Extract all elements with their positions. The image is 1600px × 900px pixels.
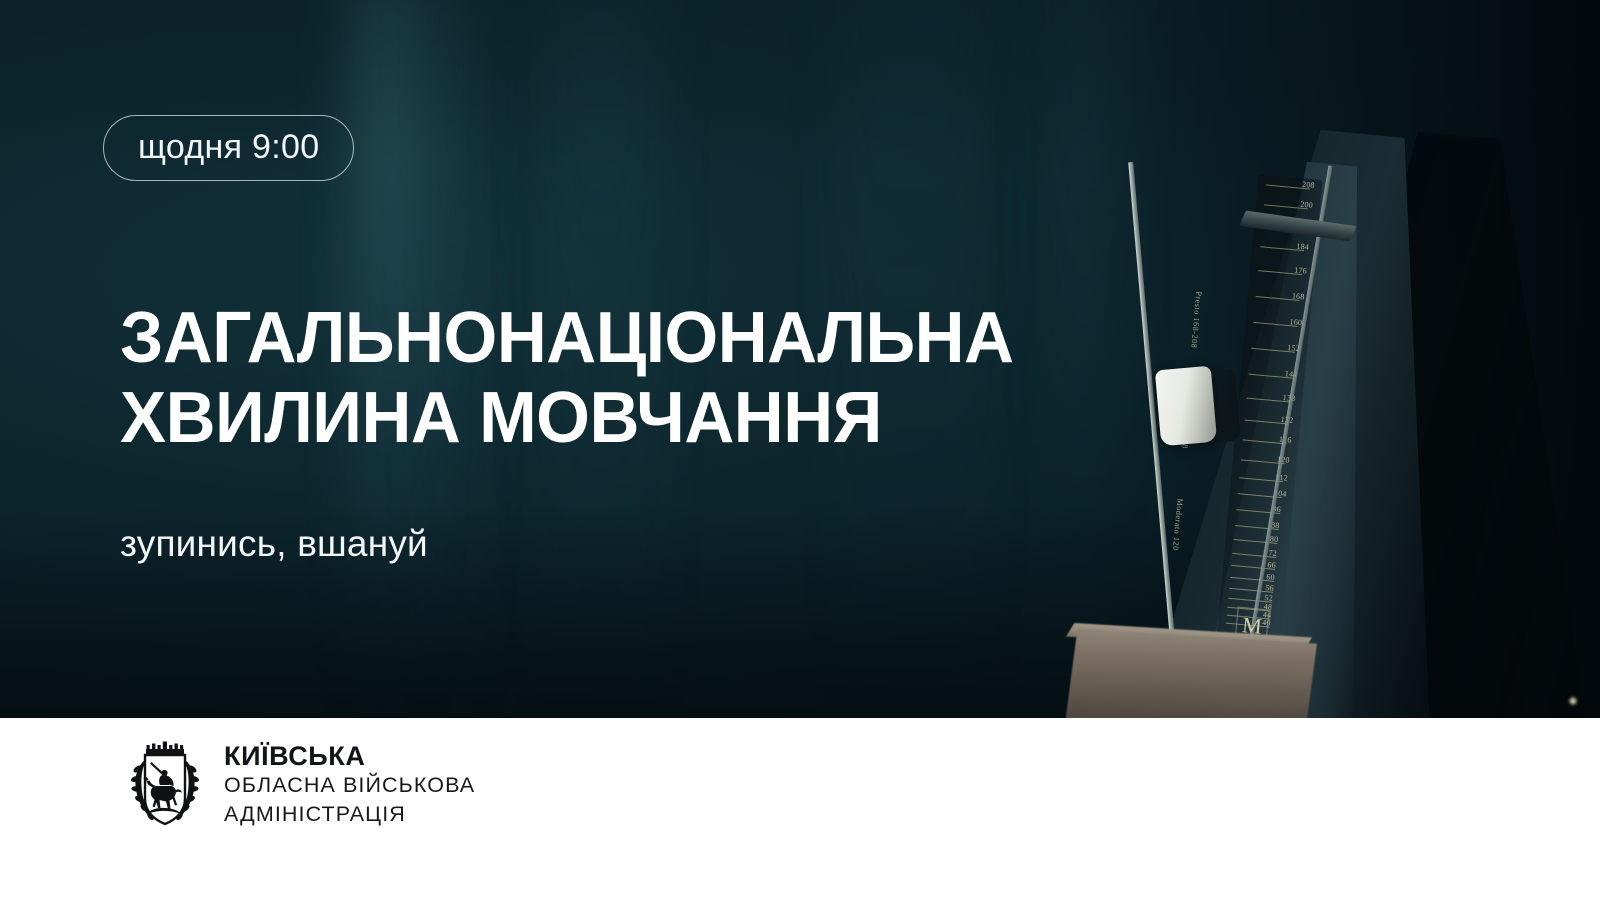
org-line-1: КИЇВСЬКА bbox=[224, 742, 475, 771]
schedule-badge: щодня 9:00 bbox=[103, 115, 354, 181]
org-line-2: ОБЛАСНА ВІЙСЬКОВА bbox=[224, 771, 475, 799]
hero-photo: 208 200 192 184 176 168 160 152 144 138 … bbox=[0, 0, 1600, 718]
headline-line-2: ХВИЛИНА МОВЧАННЯ bbox=[120, 378, 1014, 458]
page-subtitle: зупинись, вшануй bbox=[120, 524, 428, 565]
headline-line-1: ЗАГАЛЬНОНАЦІОНАЛЬНА bbox=[120, 298, 1014, 378]
organization-name: КИЇВСЬКА ОБЛАСНА ВІЙСЬКОВА АДМІНІСТРАЦІЯ bbox=[224, 742, 475, 828]
metronome-wooden-base bbox=[1063, 629, 1317, 718]
footer-bar: КИЇВСЬКА ОБЛАСНА ВІЙСЬКОВА АДМІНІСТРАЦІЯ bbox=[0, 718, 1600, 900]
kyiv-oblast-coat-of-arms-icon bbox=[128, 736, 202, 840]
organization-lockup: КИЇВСЬКА ОБЛАСНА ВІЙСЬКОВА АДМІНІСТРАЦІЯ bbox=[128, 736, 475, 840]
metronome-pendulum-weight bbox=[1155, 366, 1217, 447]
metronome-image: 208 200 192 184 176 168 160 152 144 138 … bbox=[1040, 100, 1600, 718]
org-line-3: АДМІНІСТРАЦІЯ bbox=[224, 800, 475, 828]
poster-canvas: 208 200 192 184 176 168 160 152 144 138 … bbox=[0, 0, 1600, 900]
page-title: ЗАГАЛЬНОНАЦІОНАЛЬНА ХВИЛИНА МОВЧАННЯ bbox=[120, 298, 1014, 458]
light-glint bbox=[1568, 696, 1578, 706]
